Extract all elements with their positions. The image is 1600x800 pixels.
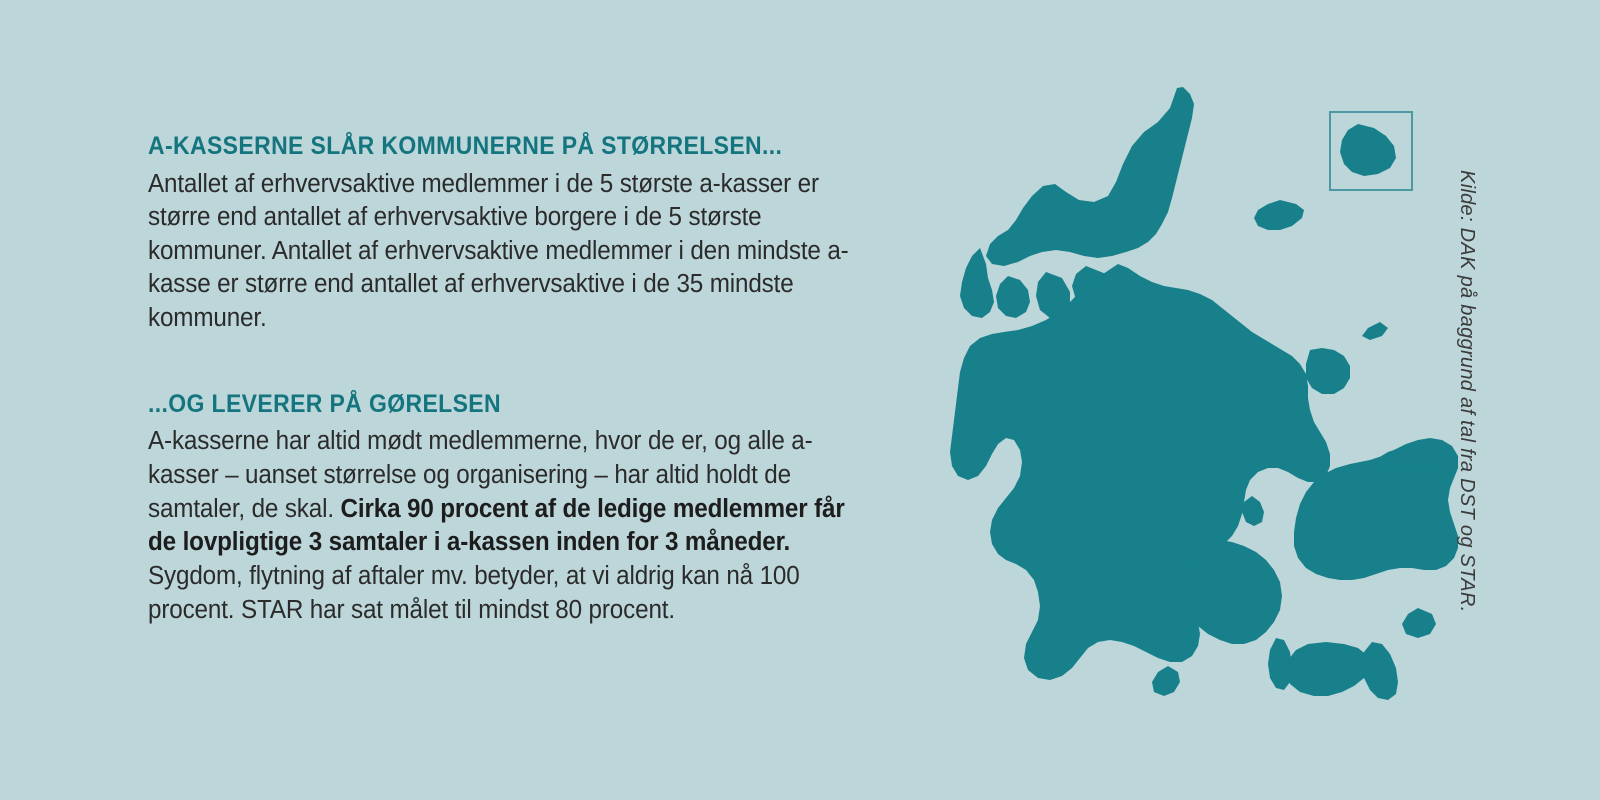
heading-a-kasserne-slaar-kommunerne: A-KASSERNE SLÅR KOMMUNERNE PÅ STØRRELSEN… [148, 132, 847, 162]
map-region-djursland [1306, 348, 1350, 394]
map-region-mors [996, 276, 1030, 318]
map-island-samsoe [1242, 496, 1264, 526]
map-region-vendsyssel [986, 87, 1194, 266]
denmark-map [880, 60, 1500, 720]
body-a-kasserne-slaar-kommunerne: Antallet af erhvervsaktive medlemmer i d… [148, 168, 870, 336]
text-block-delivery: ...OG LEVERER PÅ GØRELSEN A-kasserne har… [148, 390, 908, 627]
map-island-laesoe [1254, 200, 1304, 230]
body-og-leverer-paa-goerelsen: A-kasserne har altid mødt medlemmerne, h… [148, 425, 870, 627]
map-island-anholt [1362, 322, 1388, 340]
text-block-size: A-KASSERNE SLÅR KOMMUNERNE PÅ STØRRELSEN… [148, 132, 908, 336]
source-credit: Kilde: DAK på baggrund af tal fra DST og… [1455, 170, 1478, 610]
heading-og-leverer-paa-goerelsen: ...OG LEVERER PÅ GØRELSEN [148, 390, 847, 420]
map-island-lolland [1286, 642, 1370, 696]
map-island-bornholm [1340, 124, 1396, 176]
map-island-moen [1402, 608, 1436, 638]
text-column: A-KASSERNE SLÅR KOMMUNERNE PÅ STØRRELSEN… [148, 132, 908, 627]
map-island-als [1152, 666, 1180, 696]
map-island-falster [1362, 642, 1398, 700]
infographic-root: A-KASSERNE SLÅR KOMMUNERNE PÅ STØRRELSEN… [0, 0, 1600, 800]
